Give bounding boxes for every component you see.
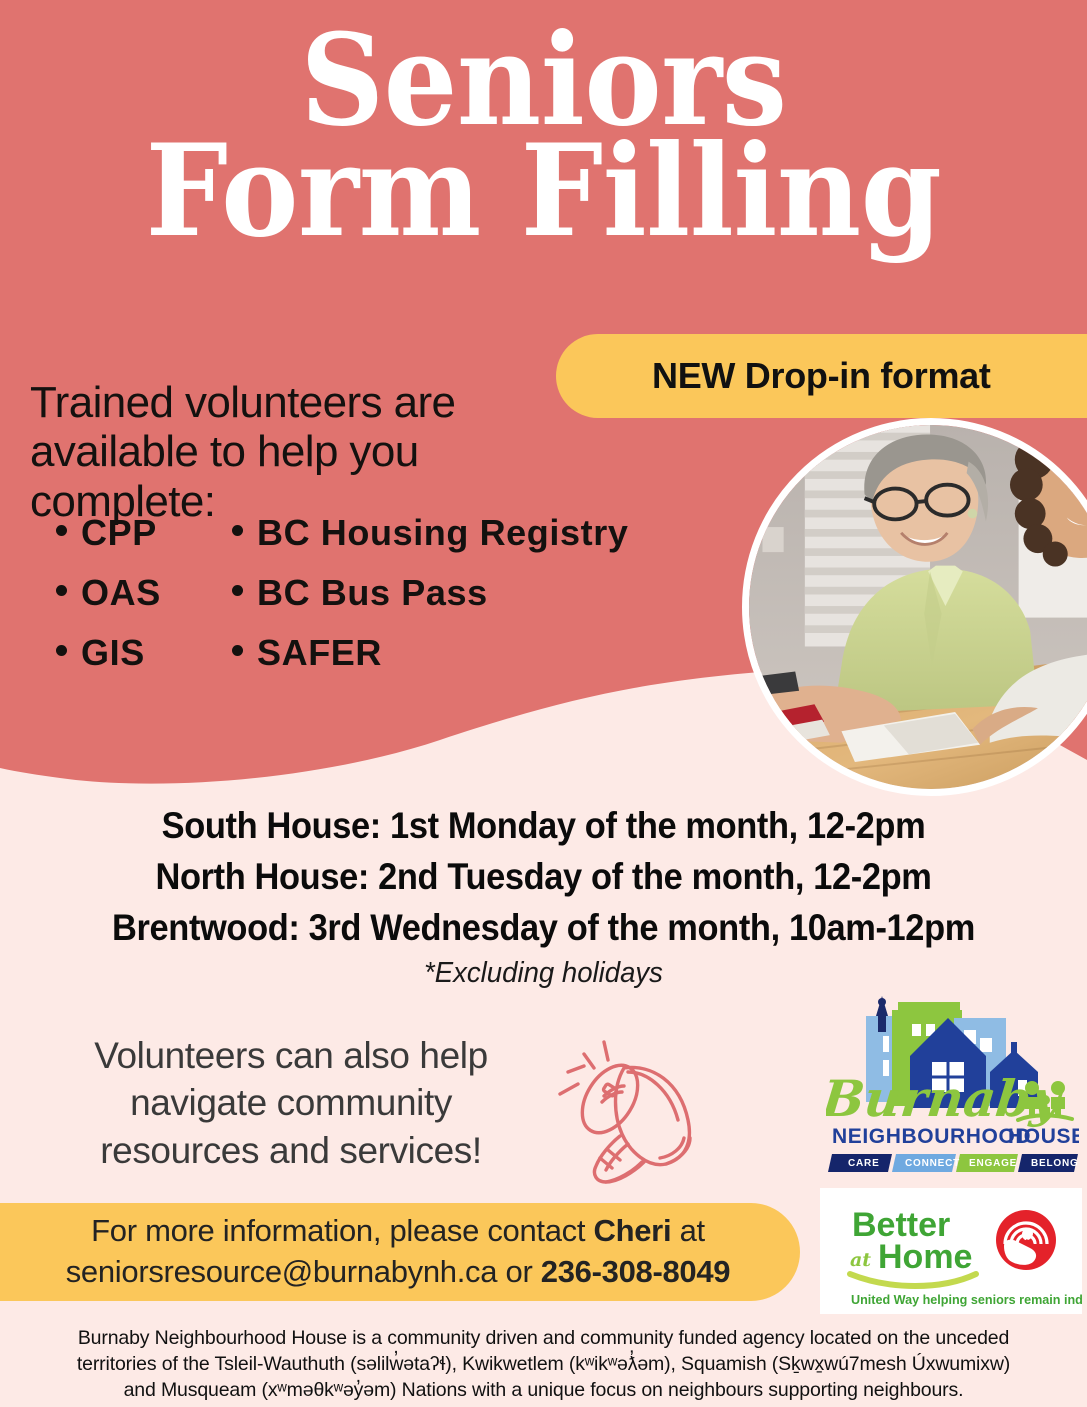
service-right-label: BC Housing Registry: [257, 512, 628, 554]
schedule-line-brentwood: Brentwood: 3rd Wednesday of the month, 1…: [38, 902, 1049, 953]
land-acknowledgement-line-2: territories of the Tsleil-Wauthuth (səli…: [38, 1352, 1049, 1378]
better-at-home-logo: Better at Home United Way helping senior…: [820, 1188, 1082, 1314]
title-line-2: Form Filling: [43, 133, 1043, 250]
land-acknowledgement-line-1: Burnaby Neighbourhood House is a communi…: [38, 1326, 1049, 1352]
service-left-label: OAS: [81, 572, 161, 614]
svg-text:CARE: CARE: [848, 1158, 880, 1169]
bnh-values-bar: CARE CONNECT ENGAGE BELONG: [828, 1154, 1079, 1172]
service-row: GIS SAFER: [56, 632, 716, 674]
land-acknowledgement-line-3: and Musqueam (xʷməθkʷəy̓əm) Nations with…: [38, 1378, 1049, 1404]
new-format-badge-label: NEW Drop-in format: [652, 355, 991, 397]
contact-prefix: For more information, please contact: [91, 1213, 593, 1248]
land-acknowledgement: Burnaby Neighbourhood House is a communi…: [38, 1326, 1049, 1404]
service-right-label: SAFER: [257, 632, 382, 674]
megaphone-icon: [548, 1032, 728, 1192]
contact-line-1: For more information, please contact Che…: [91, 1211, 705, 1252]
volunteers-text: Volunteers can also help navigate commun…: [46, 1032, 536, 1174]
bnh-script-label: Burnaby: [826, 1069, 1066, 1128]
contact-person-name: Cheri: [594, 1213, 672, 1248]
service-left-label: CPP: [81, 512, 157, 554]
contact-line-2: seniorsresource@burnabynh.ca or 236-308-…: [66, 1252, 731, 1293]
schedule-line-north: North House: 2nd Tuesday of the month, 1…: [38, 851, 1049, 902]
svg-text:BELONG: BELONG: [1031, 1158, 1079, 1169]
services-list: CPP BC Housing Registry OAS BC Bus Pass …: [56, 512, 716, 692]
contact-separator: or: [497, 1254, 541, 1289]
schedule-line-south: South House: 1st Monday of the month, 12…: [38, 800, 1049, 851]
bullet-dot-icon: [56, 525, 67, 536]
service-right-label: BC Bus Pass: [257, 572, 488, 614]
bnh-word-neighbourhood: NEIGHBOURHOOD: [832, 1125, 1031, 1148]
burnaby-neighbourhood-house-logo: Burnaby NEIGHBOURHOOD HOUSE CARE CONNECT…: [826, 988, 1079, 1178]
bullet-dot-icon: [56, 585, 67, 596]
svg-text:ENGAGE: ENGAGE: [969, 1158, 1017, 1169]
new-format-badge: NEW Drop-in format: [556, 334, 1087, 418]
contact-suffix: at: [671, 1213, 705, 1248]
seniors-photo: [749, 425, 1087, 789]
bah-tagline: United Way helping seniors remain indepe…: [851, 1293, 1082, 1307]
schedule-note: *Excluding holidays: [27, 957, 1060, 990]
contact-email[interactable]: seniorsresource@burnabynh.ca: [66, 1254, 497, 1289]
contact-phone[interactable]: 236-308-8049: [541, 1254, 730, 1289]
schedule-block: South House: 1st Monday of the month, 12…: [0, 800, 1087, 990]
poster-title: Seniors Form Filling: [0, 22, 1087, 250]
bah-word-home: Home: [878, 1238, 972, 1276]
service-left-label: GIS: [81, 632, 145, 674]
intro-text: Trained volunteers are available to help…: [30, 378, 590, 526]
bnh-word-house: HOUSE: [1008, 1125, 1079, 1148]
poster-canvas: Seniors Form Filling NEW Drop-in format: [0, 0, 1087, 1407]
bullet-dot-icon: [232, 645, 243, 656]
bah-word-at: at: [850, 1249, 871, 1271]
bullet-dot-icon: [232, 585, 243, 596]
contact-banner: For more information, please contact Che…: [0, 1203, 800, 1301]
svg-text:CONNECT: CONNECT: [905, 1158, 960, 1169]
service-row: CPP BC Housing Registry: [56, 512, 716, 554]
service-row: OAS BC Bus Pass: [56, 572, 716, 614]
bullet-dot-icon: [232, 525, 243, 536]
bullet-dot-icon: [56, 645, 67, 656]
